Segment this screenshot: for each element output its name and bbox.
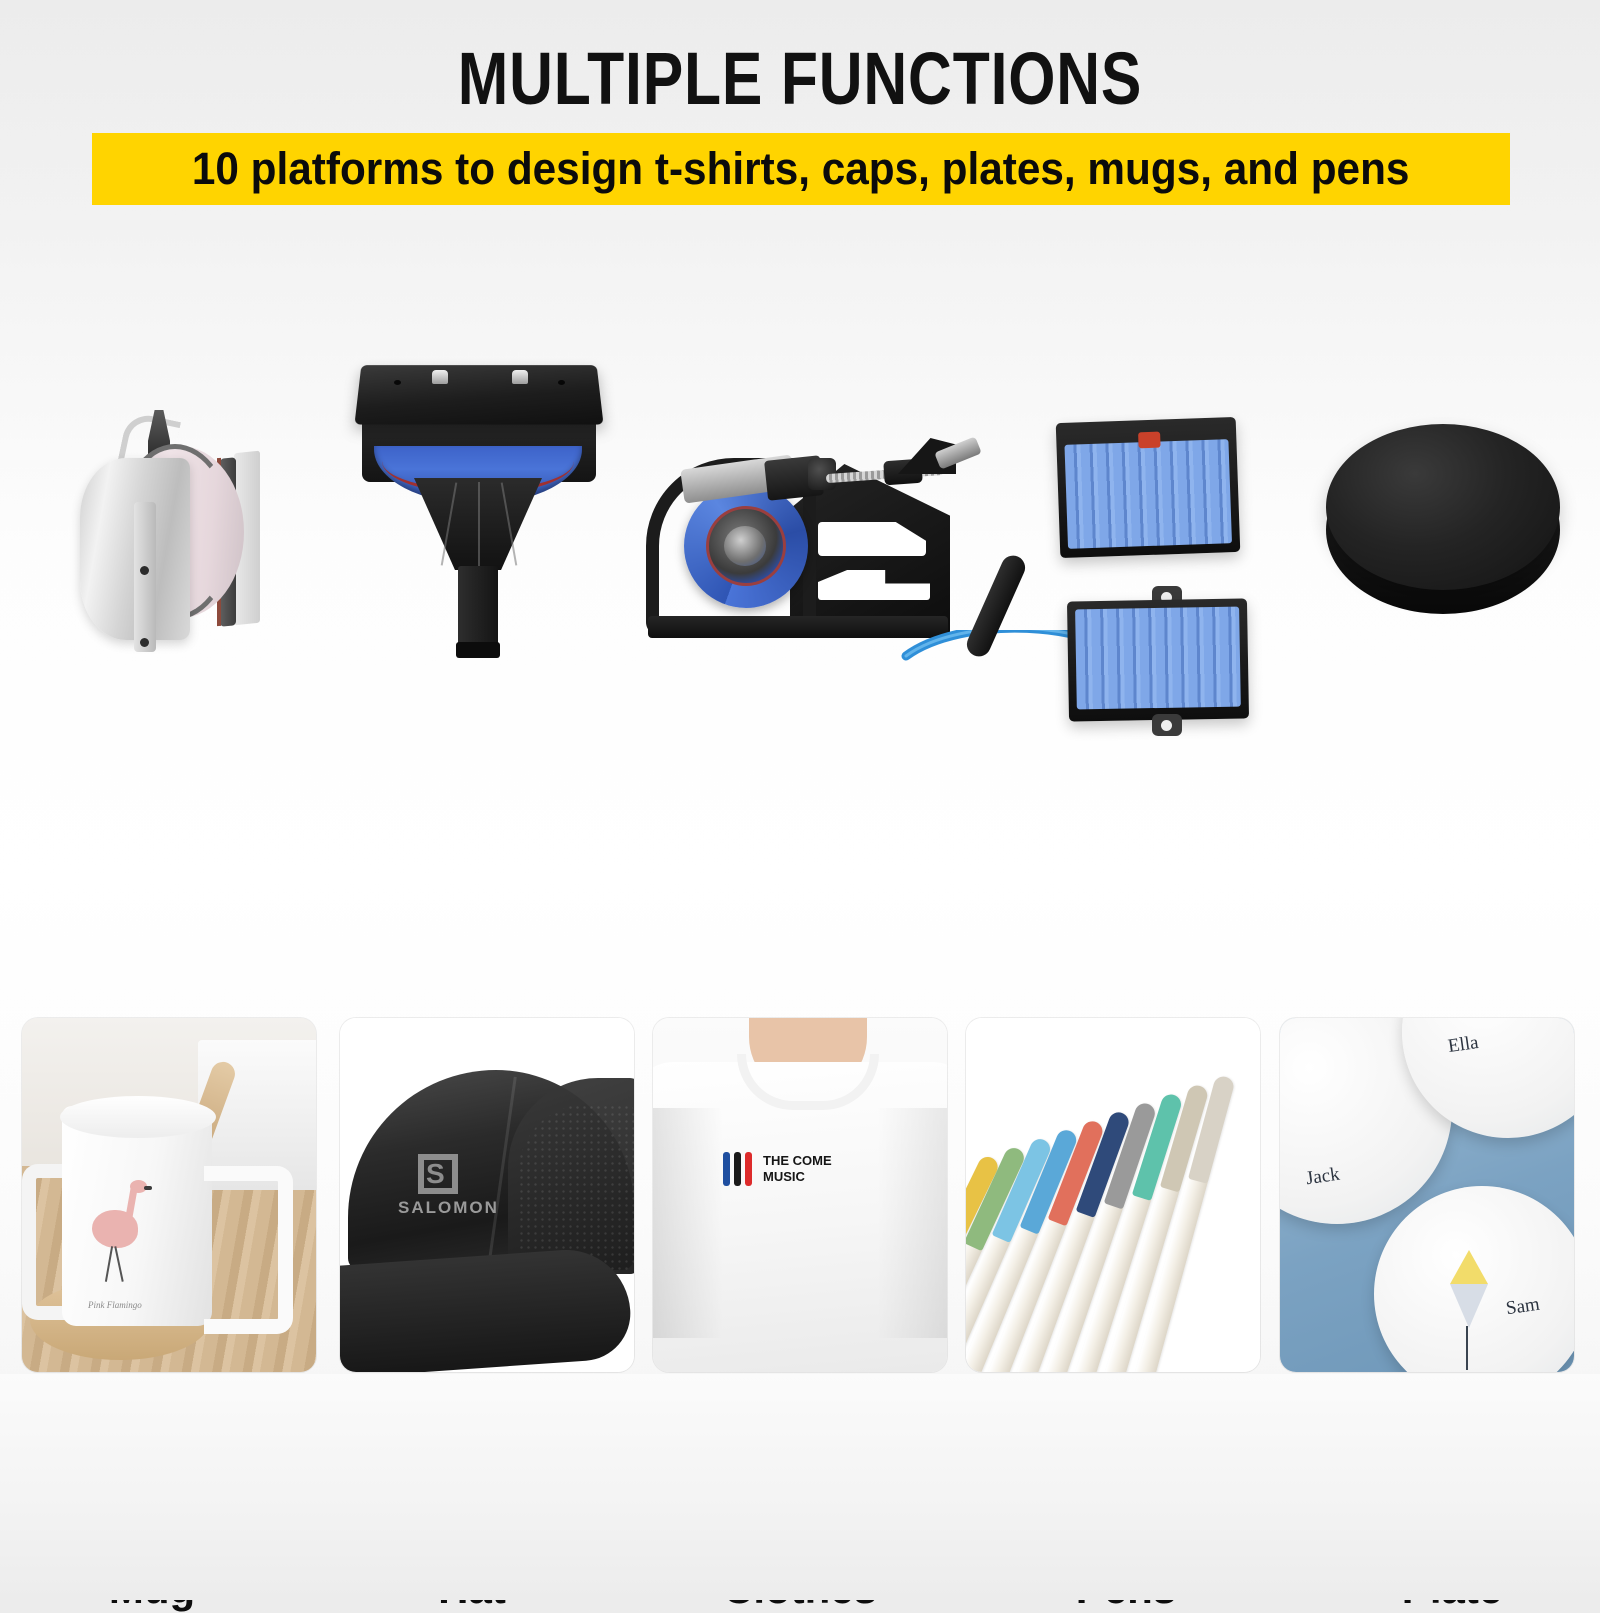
plate-name-ella: Ella — [1447, 1032, 1480, 1058]
kite-drawing-top — [1450, 1250, 1488, 1284]
product-hat-press-platen — [340, 350, 620, 670]
pen-press-silicone-ribs — [1064, 439, 1232, 549]
product-pen-press-platens — [1030, 370, 1290, 710]
product-mug-press-wrap — [70, 410, 290, 660]
timeline: Mug Hat Clothes Pens Plate — [0, 720, 1600, 950]
mug-photo-handle — [204, 1166, 293, 1334]
hat-press-screw — [432, 370, 448, 384]
pen-press-platen-upper — [1056, 417, 1241, 558]
mug-press-latch-hole — [140, 638, 149, 647]
logo-bar-black — [734, 1152, 741, 1186]
pen-press-red-connector — [1138, 432, 1161, 449]
pen-press-silicone-ribs — [1075, 607, 1241, 710]
thumbnail-row: Pink Flamingo S SALOMON — [0, 1018, 1600, 1374]
thumbnail-tshirt[interactable]: THE COME MUSIC — [653, 1018, 947, 1372]
logo-bar-red — [745, 1152, 752, 1186]
hat-press-mount-hole — [394, 380, 401, 385]
product-image-strip — [0, 300, 1600, 720]
thumbnail-plates[interactable]: Ella Jack Sam — [1280, 1018, 1574, 1372]
logo-text-line1: THE COME — [763, 1153, 832, 1169]
cap-brim — [340, 1246, 634, 1372]
hat-press-mount-hole — [558, 380, 565, 385]
product-mug-press-machine — [640, 430, 970, 660]
logo-text-line2: MUSIC — [763, 1169, 832, 1185]
mug-photo-lid — [60, 1096, 216, 1138]
mug-machine-coil-core — [724, 526, 766, 566]
thumbnail-cap[interactable]: S SALOMON — [340, 1018, 634, 1372]
tshirt-shadow-right — [877, 1108, 947, 1338]
plate-name-jack: Jack — [1305, 1164, 1341, 1190]
plate-platen-surface — [1326, 424, 1560, 590]
tshirt-shadow-left — [653, 1108, 723, 1338]
subtitle-banner: 10 platforms to design t-shirts, caps, p… — [92, 133, 1510, 205]
mug-photo-cup — [62, 1106, 212, 1326]
mug-photo-script-text: Pink Flamingo — [88, 1300, 142, 1310]
bottom-background — [0, 1374, 1600, 1600]
kite-tail — [1466, 1326, 1468, 1370]
subtitle-text: 10 platforms to design t-shirts, caps, p… — [192, 143, 1410, 195]
hat-press-stem — [458, 566, 498, 650]
cap-logo-letter: S — [426, 1160, 445, 1188]
pens-photo-canvas — [966, 1018, 1260, 1372]
thumbnail-mug[interactable]: Pink Flamingo — [22, 1018, 316, 1372]
cap-logo-text: SALOMON — [398, 1198, 499, 1218]
logo-text: THE COME MUSIC — [763, 1153, 832, 1186]
pen-press-platen-lower — [1067, 598, 1249, 721]
logo-bar-blue — [723, 1152, 730, 1186]
tshirt-chest-logo: THE COME MUSIC — [723, 1152, 832, 1186]
page-title: MULTIPLE FUNCTIONS — [144, 42, 1456, 116]
flamingo-beak — [144, 1186, 152, 1190]
product-plate-press-platen — [1320, 412, 1570, 637]
mug-press-latch-hole — [140, 566, 149, 575]
hat-press-screw — [512, 370, 528, 384]
header-block: MULTIPLE FUNCTIONS 10 platforms to desig… — [0, 0, 1600, 230]
thumbnail-pens[interactable] — [966, 1018, 1260, 1372]
cap-mesh-texture — [518, 1104, 634, 1270]
mug-press-latch-bar — [134, 502, 156, 652]
hat-press-funnel-rib — [478, 482, 480, 566]
hat-press-top-plate — [354, 365, 603, 424]
hat-press-stem-cap — [456, 642, 500, 658]
kite-drawing-bottom — [1450, 1284, 1488, 1328]
plate-name-sam: Sam — [1505, 1294, 1542, 1320]
